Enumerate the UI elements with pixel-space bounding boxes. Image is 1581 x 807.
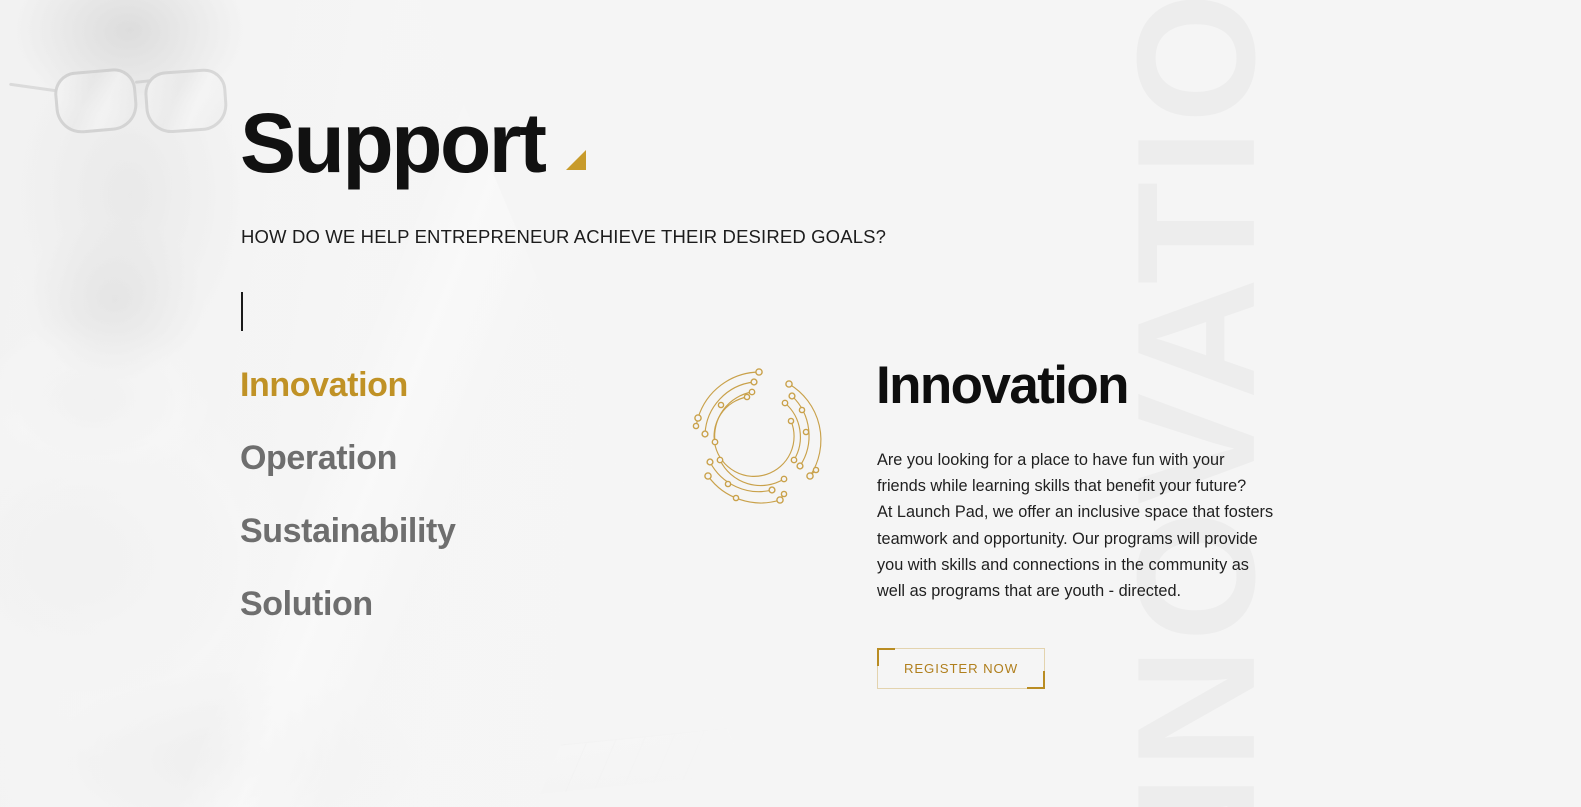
triangle-accent-icon (566, 150, 586, 170)
hero-title-row: Support (240, 104, 586, 184)
register-now-button[interactable]: REGISTER NOW (877, 648, 1045, 689)
register-now-label: REGISTER NOW (904, 661, 1018, 676)
panel-body-text: Are you looking for a place to have fun … (877, 447, 1297, 604)
nav-item-solution[interactable]: Solution (240, 587, 373, 621)
panel-body: Are you looking for a place to have fun … (877, 447, 1297, 604)
nav-item-operation[interactable]: Operation (240, 441, 397, 475)
detail-panel: Innovation Are you looking for a place t… (876, 0, 1346, 807)
nav-item-innovation[interactable]: Innovation (240, 368, 408, 402)
page-root: INNOVATION Support HOW DO WE HELP ENTREP… (0, 0, 1581, 807)
circuit-network-icon (688, 366, 830, 508)
vertical-tick-divider (241, 292, 243, 331)
support-topic-nav: Innovation Operation Sustainability Solu… (240, 368, 455, 621)
nav-item-sustainability[interactable]: Sustainability (240, 514, 455, 548)
hero-subtitle: HOW DO WE HELP ENTREPRENEUR ACHIEVE THEI… (241, 226, 886, 248)
page-title: Support (240, 104, 544, 184)
panel-title: Innovation (876, 359, 1128, 412)
